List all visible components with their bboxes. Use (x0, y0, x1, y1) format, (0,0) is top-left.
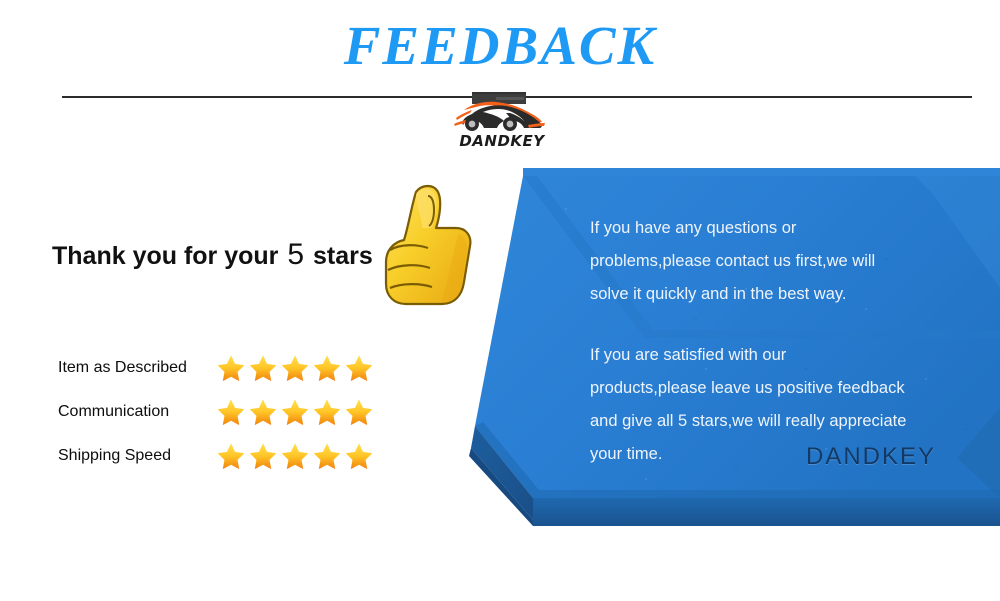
ratings-list: Item as Described Communication Shipping… (58, 346, 388, 478)
star-rating-item-as-described (216, 353, 374, 383)
rating-label: Communication (58, 404, 210, 420)
message-line: If you have any questions or (590, 212, 960, 245)
thanks-suffix: stars (313, 242, 373, 270)
star-icon (216, 441, 246, 471)
rating-row-communication: Communication (58, 390, 388, 434)
rating-label: Shipping Speed (58, 448, 210, 464)
star-icon (344, 397, 374, 427)
dandkey-car-logo: DANDKEY (450, 98, 554, 152)
star-icon (280, 353, 310, 383)
star-icon (312, 353, 342, 383)
star-icon (312, 397, 342, 427)
star-rating-shipping-speed (216, 441, 374, 471)
paragraph-gap (590, 311, 960, 339)
thank-you-heading: Thank you for your 5 stars (52, 240, 373, 270)
rating-label: Item as Described (58, 360, 210, 376)
message-line: If you are satisfied with our (590, 339, 960, 372)
page-title: FEEDBACK (0, 18, 1000, 73)
message-line: products,please leave us positive feedba… (590, 372, 960, 405)
star-icon (248, 353, 278, 383)
star-icon (248, 441, 278, 471)
rating-row-shipping-speed: Shipping Speed (58, 434, 388, 478)
star-icon (248, 397, 278, 427)
star-icon (280, 441, 310, 471)
rating-row-item-as-described: Item as Described (58, 346, 388, 390)
message-line: problems,please contact us first,we will (590, 245, 960, 278)
star-icon (216, 397, 246, 427)
star-icon (312, 441, 342, 471)
message-line: and give all 5 stars,we will really appr… (590, 405, 960, 438)
box-brand-wordmark: DANDKEY (806, 445, 936, 469)
message-line: solve it quickly and in the best way. (590, 278, 960, 311)
thanks-number: 5 (285, 238, 306, 271)
feedback-banner: FEEDBACK DANDKEY Thank you for your 5 st… (0, 0, 1000, 601)
logo-wordmark: DANDKEY (450, 134, 554, 149)
star-rating-communication (216, 397, 374, 427)
feedback-message: If you have any questions or problems,pl… (590, 212, 960, 471)
star-icon (216, 353, 246, 383)
star-icon (280, 397, 310, 427)
thanks-prefix: Thank you for your (52, 242, 278, 270)
star-icon (344, 441, 374, 471)
star-icon (344, 353, 374, 383)
